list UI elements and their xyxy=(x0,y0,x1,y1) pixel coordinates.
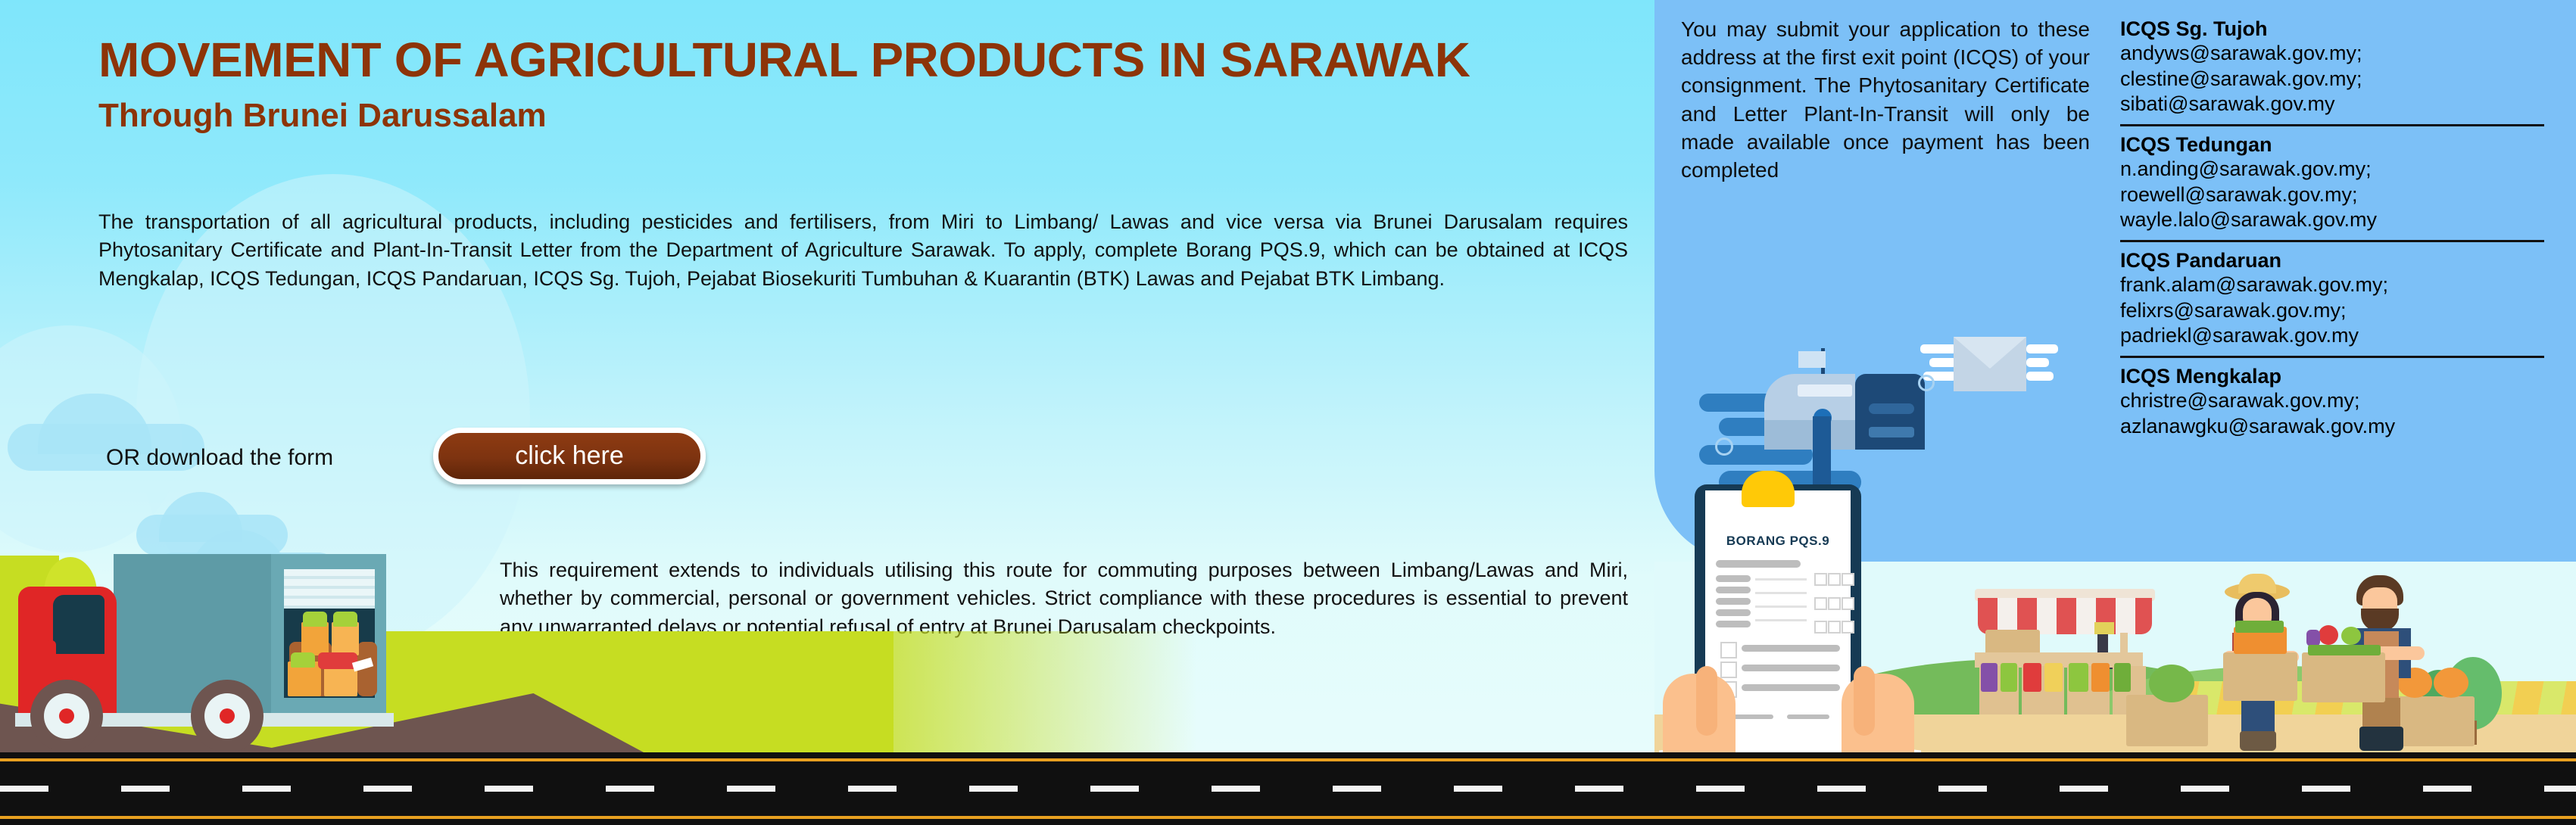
secondary-paragraph: This requirement extends to individuals … xyxy=(500,556,1628,641)
cargo-greens-3 xyxy=(291,652,315,668)
download-label: OR download the form xyxy=(106,445,333,471)
form-signature-1 xyxy=(1731,714,1773,719)
clipboard-clip xyxy=(1742,471,1795,507)
click-here-button[interactable]: click here xyxy=(433,428,706,484)
envelope-wing-right-1 xyxy=(2026,344,2058,353)
left-thumb xyxy=(1696,666,1717,736)
contact-list: ICQS Sg. Tujoh andyws@sarawak.gov.my; cl… xyxy=(2120,17,2544,444)
pumpkin-2 xyxy=(2434,668,2468,698)
contact-block-mengkalap: ICQS Mengkalap christre@sarawak.gov.my; … xyxy=(2120,356,2544,444)
envelope-wing-right-3 xyxy=(2026,372,2054,381)
form-line-2 xyxy=(1716,587,1751,593)
office-email[interactable]: clestine@sarawak.gov.my; xyxy=(2120,67,2544,92)
main-paragraph: The transportation of all agricultural p… xyxy=(98,208,1628,293)
man-produce-crate xyxy=(2302,652,2385,702)
form-line-5 xyxy=(1716,621,1751,627)
form-line-header xyxy=(1716,560,1801,568)
envelope-flap xyxy=(1954,337,2026,369)
cargo-greens-1 xyxy=(303,612,327,627)
stall-scale-display xyxy=(2094,622,2114,634)
form-line-4 xyxy=(1716,609,1751,616)
mailbox-back-line-2 xyxy=(1869,427,1914,437)
form-checkbox[interactable] xyxy=(1814,597,1827,610)
contact-block-pandaruan: ICQS Pandaruan frank.alam@sarawak.gov.my… xyxy=(2120,240,2544,353)
watermelon-crate xyxy=(2126,695,2208,746)
office-email[interactable]: sibati@sarawak.gov.my xyxy=(2120,92,2544,117)
page-subtitle: Through Brunei Darussalam xyxy=(98,97,547,135)
hat-crown xyxy=(2238,574,2276,593)
man-crate-eggplant xyxy=(2306,630,2320,646)
submission-note: You may submit your application to these… xyxy=(1681,15,2090,184)
truck-shutter xyxy=(284,569,375,609)
envelope-wing-right-2 xyxy=(2026,358,2049,367)
cargo-greens-2 xyxy=(333,612,357,627)
truck-window xyxy=(53,595,104,654)
form-rule-4 xyxy=(1755,619,1807,621)
wheel-hub xyxy=(59,708,74,724)
green-veg xyxy=(2001,663,2017,692)
carrots xyxy=(2091,663,2110,692)
envelope-wing-left-1 xyxy=(1920,344,1957,353)
office-email[interactable]: andyws@sarawak.gov.my; xyxy=(2120,41,2544,66)
man-crate-tomato xyxy=(2319,625,2338,645)
road-dashes xyxy=(0,786,2576,792)
speed-ring-1 xyxy=(1715,437,1733,456)
right-thumb xyxy=(1854,666,1875,736)
truck-wheel-rear xyxy=(191,680,264,752)
office-name: ICQS Tedungan xyxy=(2120,132,2544,157)
woman-crate-leaves xyxy=(2235,621,2284,633)
form-checkbox[interactable] xyxy=(1828,597,1841,610)
office-email[interactable]: wayle.lalo@sarawak.gov.my xyxy=(2120,207,2544,232)
form-checkbox-row[interactable] xyxy=(1720,642,1737,658)
form-checkbox[interactable] xyxy=(1814,621,1827,634)
form-line-3 xyxy=(1716,598,1751,605)
cabbage xyxy=(2069,663,2088,692)
office-email[interactable]: frank.alam@sarawak.gov.my; xyxy=(2120,272,2544,297)
form-rule-3 xyxy=(1755,606,1807,608)
form-row-line-3 xyxy=(1742,684,1840,691)
mailbox-flag xyxy=(1798,351,1826,368)
form-signature-2 xyxy=(1787,714,1829,719)
speed-ring-2 xyxy=(1918,375,1935,391)
boots xyxy=(2240,731,2276,751)
contact-block-tedungan: ICQS Tedungan n.anding@sarawak.gov.my; r… xyxy=(2120,124,2544,237)
delivery-truck xyxy=(0,525,469,752)
cargo-crate-1 xyxy=(301,622,329,655)
page-title: MOVEMENT OF AGRICULTURAL PRODUCTS IN SAR… xyxy=(98,32,1470,88)
boots xyxy=(2359,727,2403,751)
grass-fade xyxy=(803,631,1196,752)
road-edge-bottom xyxy=(0,816,2576,819)
corn xyxy=(2044,663,2063,692)
office-name: ICQS Mengkalap xyxy=(2120,364,2544,388)
contact-block-sg-tujoh: ICQS Sg. Tujoh andyws@sarawak.gov.my; cl… xyxy=(2120,17,2544,121)
form-checkbox-row[interactable] xyxy=(1720,662,1737,678)
man-crate-cabbage xyxy=(2341,627,2361,645)
form-checkbox[interactable] xyxy=(1842,573,1854,586)
man-crate-leaves xyxy=(2308,645,2381,655)
form-row-line-2 xyxy=(1742,665,1840,671)
eggplants xyxy=(1981,663,1997,692)
office-email[interactable]: christre@sarawak.gov.my; xyxy=(2120,388,2544,413)
mailbox-back-line-1 xyxy=(1869,403,1914,414)
form-row-line-1 xyxy=(1742,645,1840,652)
office-email[interactable]: padriekl@sarawak.gov.my xyxy=(2120,323,2544,348)
woman-produce-crate xyxy=(2223,652,2297,701)
cargo-crate-2 xyxy=(332,622,359,655)
form-title: BORANG PQS.9 xyxy=(1705,534,1851,549)
truck-wheel-front xyxy=(30,680,103,752)
office-email[interactable]: n.anding@sarawak.gov.my; xyxy=(2120,157,2544,182)
infographic-banner: MOVEMENT OF AGRICULTURAL PRODUCTS IN SAR… xyxy=(0,0,2576,825)
form-checkbox[interactable] xyxy=(1814,573,1827,586)
tomatoes xyxy=(2023,663,2041,692)
wheel-hub xyxy=(220,708,235,724)
stall-awning xyxy=(1978,598,2152,634)
office-email[interactable]: azlanawgku@sarawak.gov.my xyxy=(2120,414,2544,439)
cucumbers xyxy=(2114,663,2131,692)
office-email[interactable]: roewell@sarawak.gov.my; xyxy=(2120,182,2544,207)
mailbox-slot xyxy=(1798,384,1852,397)
form-checkbox[interactable] xyxy=(1828,621,1841,634)
office-name: ICQS Sg. Tujoh xyxy=(2120,17,2544,41)
form-checkbox[interactable] xyxy=(1828,573,1841,586)
envelope-wing-left-2 xyxy=(1929,358,1957,367)
watermelon xyxy=(2149,665,2194,702)
form-rule-2 xyxy=(1755,592,1807,594)
form-checkbox[interactable] xyxy=(1842,621,1854,634)
road xyxy=(0,752,2576,825)
form-line-1 xyxy=(1716,575,1751,582)
truck-mirror xyxy=(45,640,56,663)
form-rule-1 xyxy=(1755,578,1807,581)
form-checkbox[interactable] xyxy=(1842,597,1854,610)
mailbox-body-lower xyxy=(1764,420,1855,450)
road-edge-top xyxy=(0,758,2576,761)
office-name: ICQS Pandaruan xyxy=(2120,248,2544,272)
cargo-tomatoes xyxy=(318,652,357,669)
office-email[interactable]: felixrs@sarawak.gov.my; xyxy=(2120,298,2544,323)
